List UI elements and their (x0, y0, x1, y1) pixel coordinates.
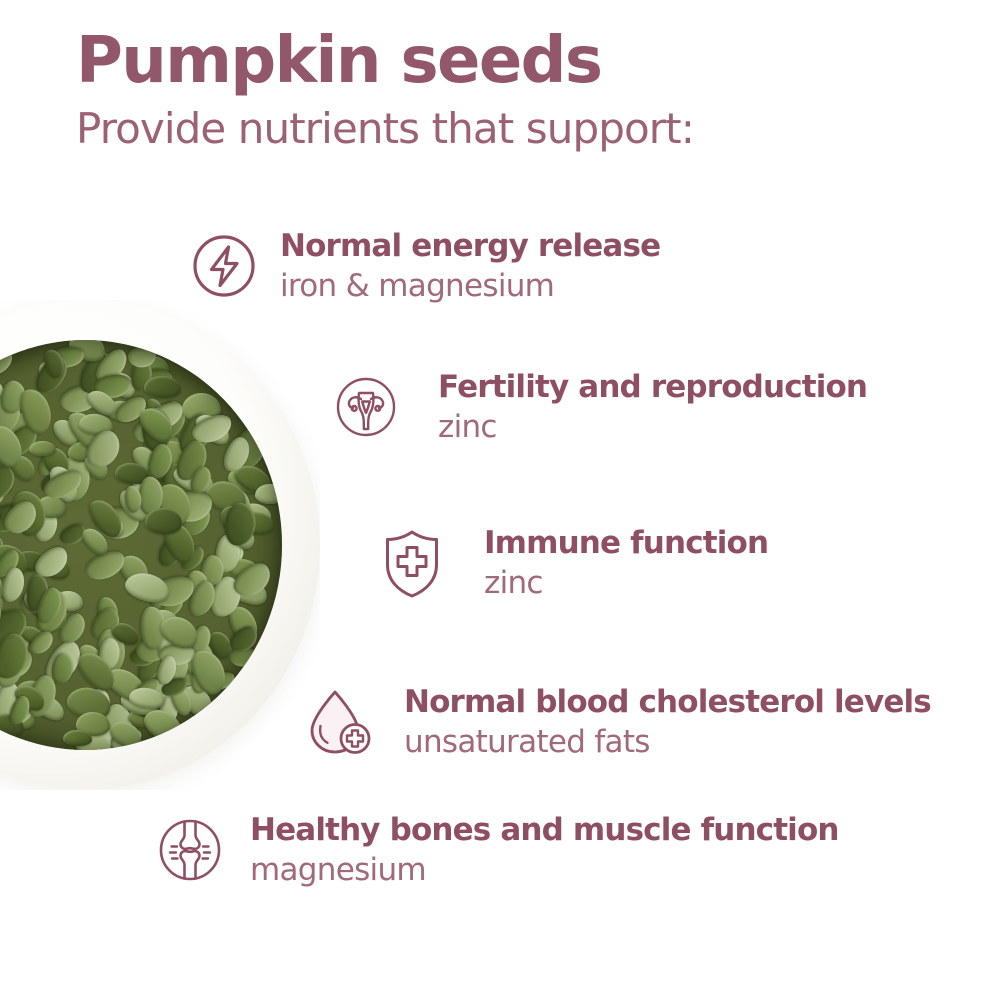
benefit-nutrient: unsaturated fats (404, 725, 931, 761)
benefit-texts: Normal blood cholesterol levels unsatura… (378, 684, 931, 761)
benefit-nutrient: magnesium (250, 853, 839, 889)
page-title: Pumpkin seeds (76, 28, 936, 95)
benefit-headline: Normal blood cholesterol levels (404, 686, 931, 719)
uterus-circle-icon (328, 369, 404, 445)
pumpkin-seed (0, 348, 17, 380)
bowl-shape (0, 300, 320, 790)
pumpkin-seeds-photo (0, 300, 320, 790)
infographic-page: Pumpkin seeds Provide nutrients that sup… (0, 0, 1000, 1000)
benefit-item-energy: Normal energy release iron & magnesium (186, 228, 660, 305)
benefit-headline: Immune function (484, 527, 768, 560)
benefit-headline: Normal energy release (280, 230, 660, 263)
benefit-nutrient: zinc (438, 410, 867, 446)
pumpkin-seed (29, 441, 56, 456)
pumpkin-seed (144, 375, 182, 398)
benefit-texts: Immune function zinc (450, 525, 768, 602)
seed-bed (0, 340, 282, 750)
page-subtitle: Provide nutrients that support: (76, 105, 936, 152)
shield-cross-icon (374, 525, 450, 601)
benefit-headline: Fertility and reproduction (438, 371, 867, 404)
benefit-texts: Fertility and reproduction zinc (404, 369, 867, 446)
benefit-nutrient: iron & magnesium (280, 269, 660, 305)
blood-droplet-cross-icon (302, 684, 378, 760)
benefit-item-fertility: Fertility and reproduction zinc (328, 369, 867, 446)
benefit-item-immune: Immune function zinc (374, 525, 768, 602)
benefit-nutrient: zinc (484, 566, 768, 602)
pumpkin-seed (82, 547, 129, 586)
benefit-texts: Normal energy release iron & magnesium (262, 228, 660, 305)
lightning-bolt-circle-icon (186, 228, 262, 304)
benefit-item-cholesterol: Normal blood cholesterol levels unsatura… (302, 684, 931, 761)
bone-joint-circle-icon (152, 812, 228, 888)
header: Pumpkin seeds Provide nutrients that sup… (76, 28, 936, 152)
pumpkin-seed (255, 484, 282, 505)
benefit-item-bones: Healthy bones and muscle function magnes… (152, 812, 839, 889)
benefit-texts: Healthy bones and muscle function magnes… (228, 812, 839, 889)
benefit-headline: Healthy bones and muscle function (250, 814, 839, 847)
